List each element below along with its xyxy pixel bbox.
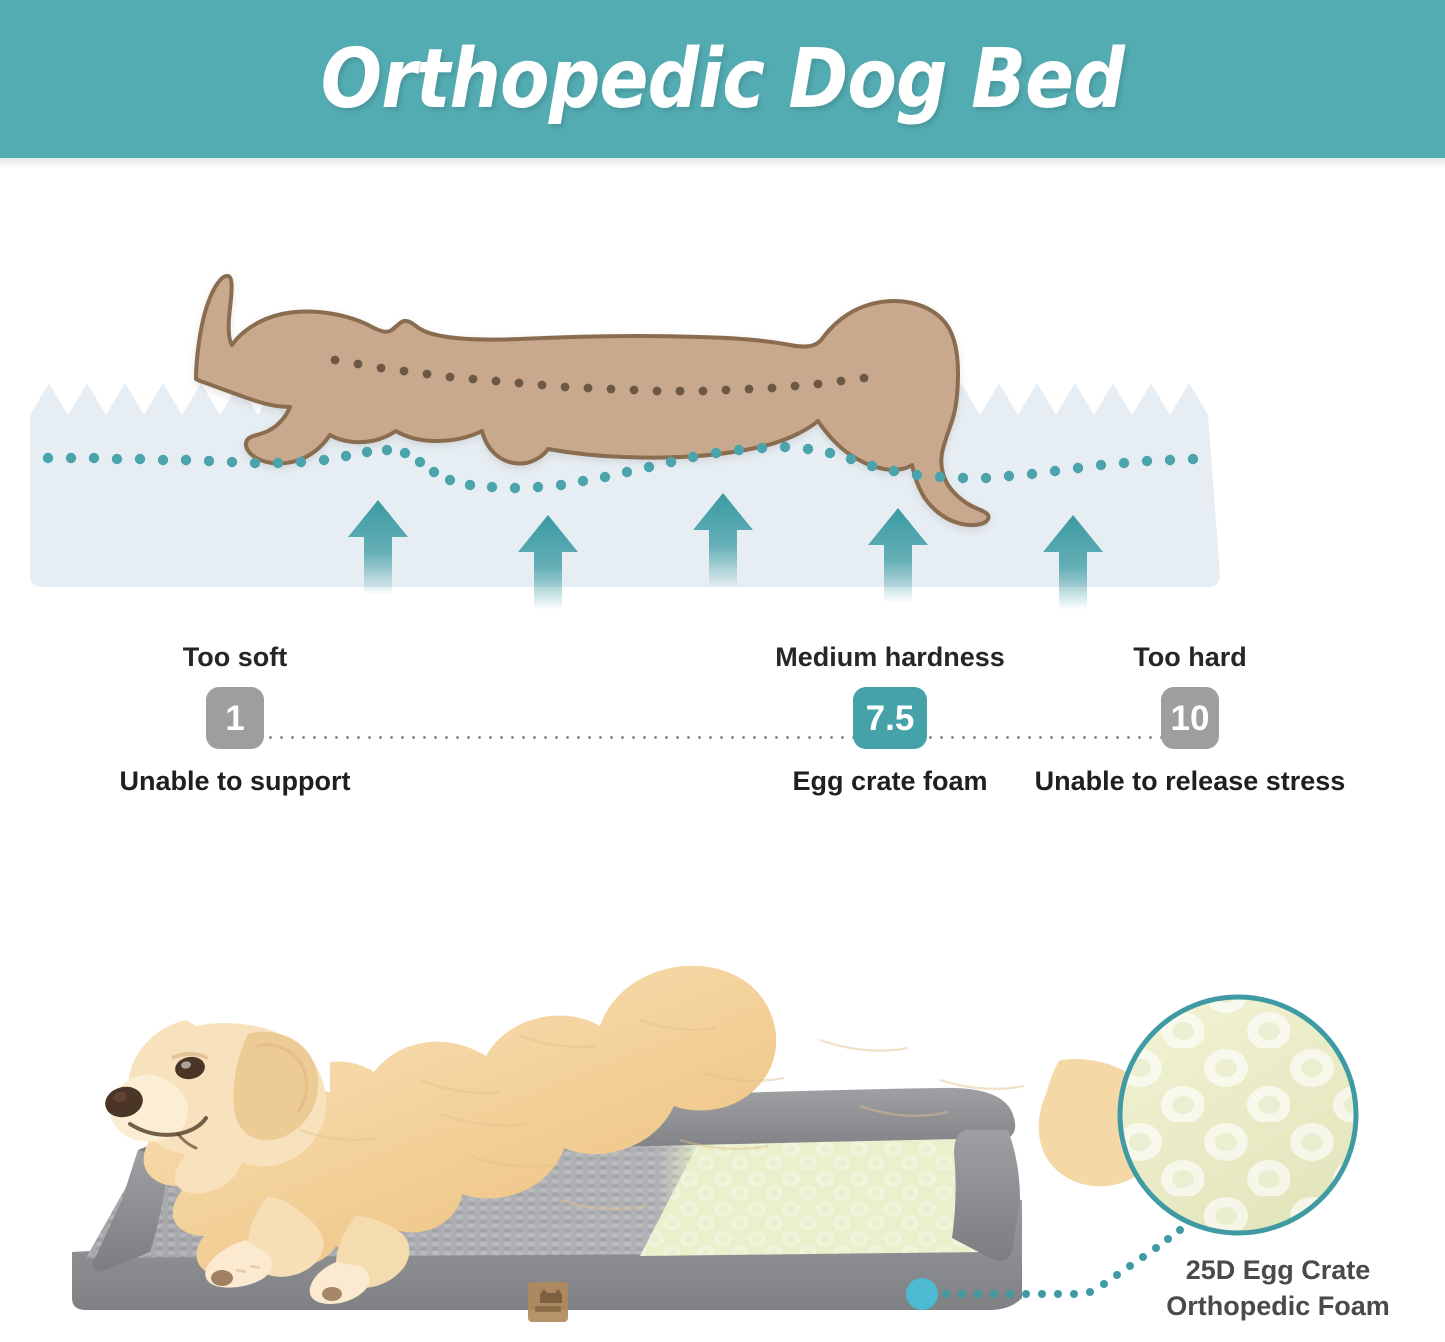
scale-stop-top-label: Too hard: [1010, 640, 1370, 674]
bed-right-bolster: [952, 1130, 1020, 1261]
scale-badge-10: 10: [1161, 687, 1219, 749]
scale-stop-bottom-label: Unable to release stress: [1010, 765, 1370, 798]
scale-stop-too-soft: Too soft 1 Unable to support: [55, 640, 415, 798]
support-diagram: [0, 175, 1445, 615]
scale-stop-bottom-label: Unable to support: [55, 765, 415, 798]
callout-label-line2: Orthopedic Foam: [1118, 1288, 1438, 1324]
foam-closeup-inset: [1120, 997, 1356, 1233]
scale-badge-7-5: 7.5: [853, 687, 927, 749]
brand-label: [528, 1282, 568, 1322]
callout-label-line1: 25D Egg Crate: [1118, 1252, 1438, 1288]
banner-shadow: [0, 158, 1445, 168]
scale-stop-top-label: Too soft: [55, 640, 415, 674]
callout-label: 25D Egg Crate Orthopedic Foam: [1118, 1252, 1438, 1324]
scale-stop-too-hard: Too hard 10 Unable to release stress: [1010, 640, 1370, 798]
hardness-scale: Too soft 1 Unable to support Medium hard…: [0, 640, 1445, 870]
page-header-banner: Orthopedic Dog Bed: [0, 0, 1445, 158]
callout-marker-dot: [906, 1278, 938, 1310]
page-title: Orthopedic Dog Bed: [321, 32, 1124, 127]
scale-badge-1: 1: [206, 687, 264, 749]
